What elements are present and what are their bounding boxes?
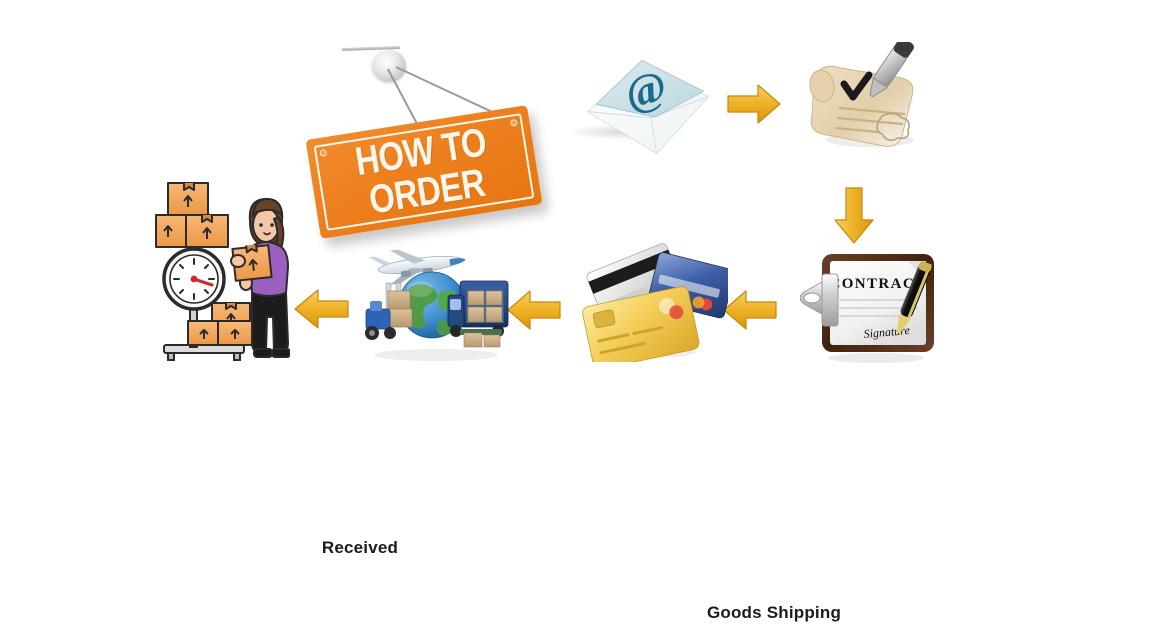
arrow-left-shipping-to-received <box>292 287 350 331</box>
envelope-at-icon: @ <box>577 48 722 173</box>
arrow-right-inquiry-to-reply <box>726 82 782 126</box>
step-label-goods-shipping: Goods Shipping <box>664 603 884 623</box>
step-receive-payment: Receive Payment <box>578 242 738 377</box>
credit-cards-icon <box>578 242 728 362</box>
arrow-down-reply-to-contract <box>832 186 876 246</box>
plane-globe-truck-icon <box>348 243 523 363</box>
step-reply: Reply <box>800 42 960 187</box>
person-scale-boxes-icon <box>150 175 290 370</box>
sign-board: HOW TO ORDER <box>306 105 543 239</box>
document-checkmark-pen-icon <box>800 42 940 152</box>
sign-title: HOW TO ORDER <box>327 118 521 226</box>
step-goods-shipping: Goods Shipping <box>348 243 523 373</box>
how-to-order-sign: HOW TO ORDER <box>296 38 546 238</box>
step-label-inquiry: Inquiry <box>1099 210 1151 230</box>
how-to-order-infographic: HOW TO ORDER @ Inquiry <box>0 0 1151 414</box>
step-received: Received <box>150 175 290 375</box>
step-contract: CONTRACT Signature Contract <box>800 248 960 378</box>
hook-knob-icon <box>372 50 406 82</box>
step-inquiry: @ Inquiry <box>562 50 742 195</box>
step-label-receive-payment: Receive Payment <box>1115 604 1151 624</box>
contract-clipboard-pen-icon: CONTRACT Signature <box>800 248 950 366</box>
step-label-received: Received <box>250 538 470 558</box>
